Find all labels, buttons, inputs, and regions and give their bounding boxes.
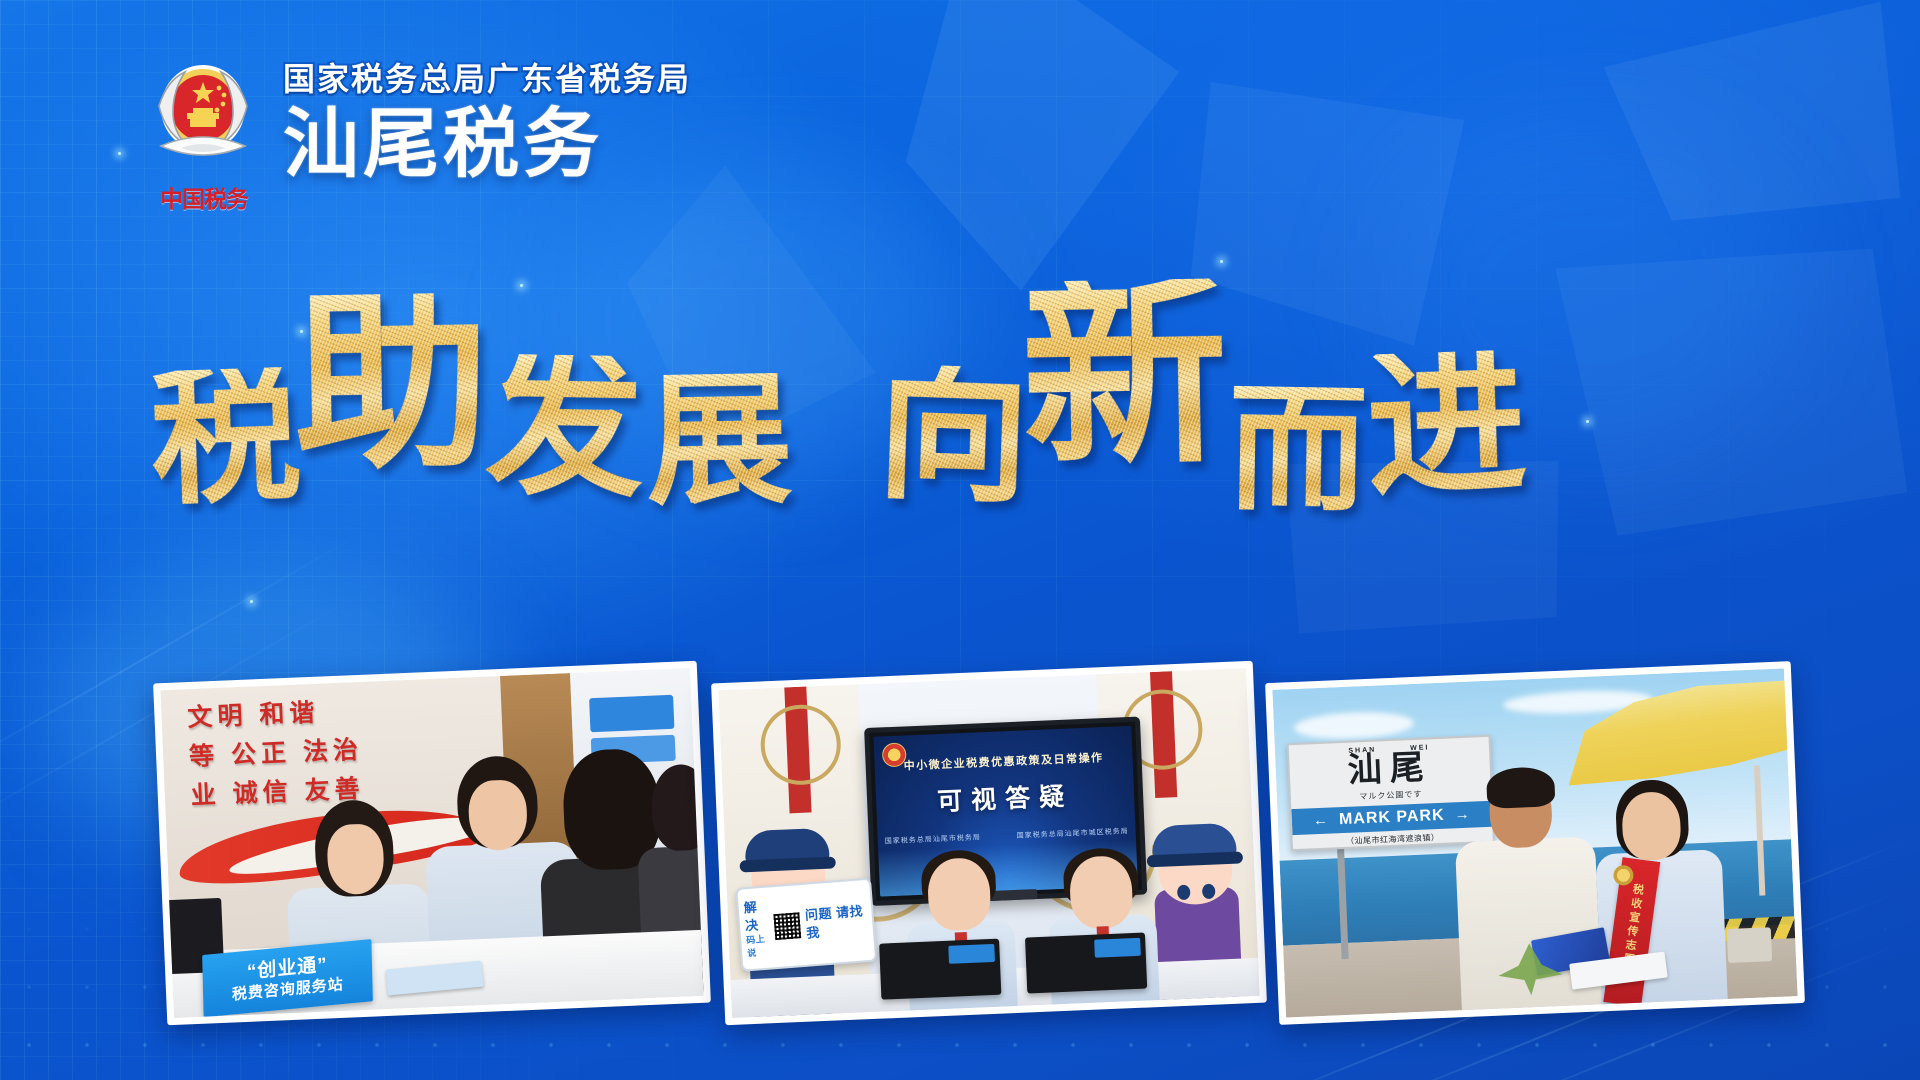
arrow-right-icon: → <box>1454 806 1471 824</box>
header-text-block: 国家税务总局广东省税务局 汕尾税务 <box>283 58 691 186</box>
sign-location-note: （汕尾市红海湾遮浪镇） <box>1346 832 1440 847</box>
mascot-sign-right-main: 问题 <box>804 906 832 923</box>
photo-1-scene: 文明 和谐 等 公正 法治 业 诚信 友善 <box>160 668 703 1018</box>
photo-2-laptop <box>1025 933 1147 994</box>
mascot-sign-left: 解决 码上说 <box>743 898 772 959</box>
slogan-char: 向 <box>875 363 1032 508</box>
screen-footer-right: 国家税务总局汕尾市城区税务局 <box>1017 826 1129 841</box>
slogan-char: 发 <box>485 354 646 502</box>
mascot-cap <box>1151 823 1236 860</box>
photo-2-scene: 中小微企业税费优惠政策及日常操作 可视答疑 国家税务总局汕尾市税务局 国家税务总… <box>718 668 1259 1018</box>
slogan-char: 助 <box>292 293 491 477</box>
photo-card-beach-outreach: SHAN WEI 汕尾 マルク公園です ← MARK PARK → （汕尾市红海… <box>1265 661 1805 1025</box>
mascot-eye-icon <box>1202 884 1216 900</box>
photo-card-live-qa: 中小微企业税费优惠政策及日常操作 可视答疑 国家税务总局汕尾市税务局 国家税务总… <box>711 661 1267 1025</box>
laptop-sticker <box>1094 938 1141 958</box>
photo-3-officer-face <box>1621 791 1682 861</box>
arrow-left-icon: ← <box>1313 812 1330 830</box>
photo-3-scene: SHAN WEI 汕尾 マルク公園です ← MARK PARK → （汕尾市红海… <box>1272 668 1797 1017</box>
mascot-cap <box>744 828 829 865</box>
photo-card-service-hall: 文明 和谐 等 公正 法治 业 诚信 友善 <box>153 661 711 1025</box>
poster-header: 中国税务 国家税务总局广东省税务局 汕尾税务 <box>145 58 691 218</box>
mascot-sign-left-sub: 码上说 <box>746 933 772 959</box>
sign-chinese-name: 汕尾 <box>1347 750 1432 789</box>
screen-footer-left: 国家税务总局汕尾市税务局 <box>885 832 981 846</box>
photo-3-stone-block <box>1727 927 1772 963</box>
photo-2-mascot-sign: 解决 码上说 问题 请找我 <box>735 878 877 972</box>
sparkle-icon <box>118 152 121 155</box>
sparkle-icon <box>250 600 253 603</box>
photo-strip: 文明 和谐 等 公正 法治 业 诚信 友善 <box>0 672 1920 1012</box>
photo-3-direction-sign: SHAN WEI 汕尾 マルク公園です ← MARK PARK → （汕尾市红海… <box>1287 735 1495 851</box>
brand-title: 汕尾税务 <box>283 105 691 186</box>
emblem-caption: 中国税务 <box>149 154 259 214</box>
mascot-eye-icon <box>1177 885 1191 901</box>
sparkle-icon <box>520 284 523 287</box>
photo-2-laptop <box>879 939 1001 1000</box>
slogan-part-2: 向 新 而 进 <box>878 300 1526 490</box>
mascot-sign-left-main: 解决 <box>743 900 759 933</box>
slogan-char: 新 <box>1020 278 1229 471</box>
slogan-char: 展 <box>645 373 793 510</box>
poster-canvas: 中国税务 国家税务总局广东省税务局 汕尾税务 税 助 发 展 向 新 而 进 <box>0 0 1920 1080</box>
sign-english-bar: ← MARK PARK → <box>1291 800 1492 835</box>
laptop-sticker <box>948 944 995 964</box>
mascot-sign-right: 问题 请找我 <box>804 903 868 943</box>
screen-subtitle: 中小微企业税费优惠政策及日常操作 <box>903 749 1103 773</box>
china-tax-emblem: 中国税务 <box>145 58 261 218</box>
sign-english-name: MARK PARK <box>1339 807 1445 829</box>
photo-1-wall-sign <box>589 695 674 732</box>
screen-title: 可视答疑 <box>936 776 1073 818</box>
slogan-part-1: 税 助 发 展 <box>150 308 792 488</box>
slogan-char: 进 <box>1364 350 1529 503</box>
qr-code-icon <box>774 912 802 940</box>
emblem-svg <box>151 62 255 166</box>
organization-name: 国家税务总局广东省税务局 <box>283 62 691 97</box>
photo-1-wall-slogans: 文明 和谐 等 公正 法治 业 诚信 友善 <box>187 687 492 816</box>
slogan-block: 税 助 发 展 向 新 而 进 <box>150 300 1830 490</box>
sign-japanese-text: マルク公園です <box>1359 788 1422 802</box>
slogan-char: 税 <box>148 366 303 509</box>
slogan-char: 而 <box>1226 386 1368 517</box>
